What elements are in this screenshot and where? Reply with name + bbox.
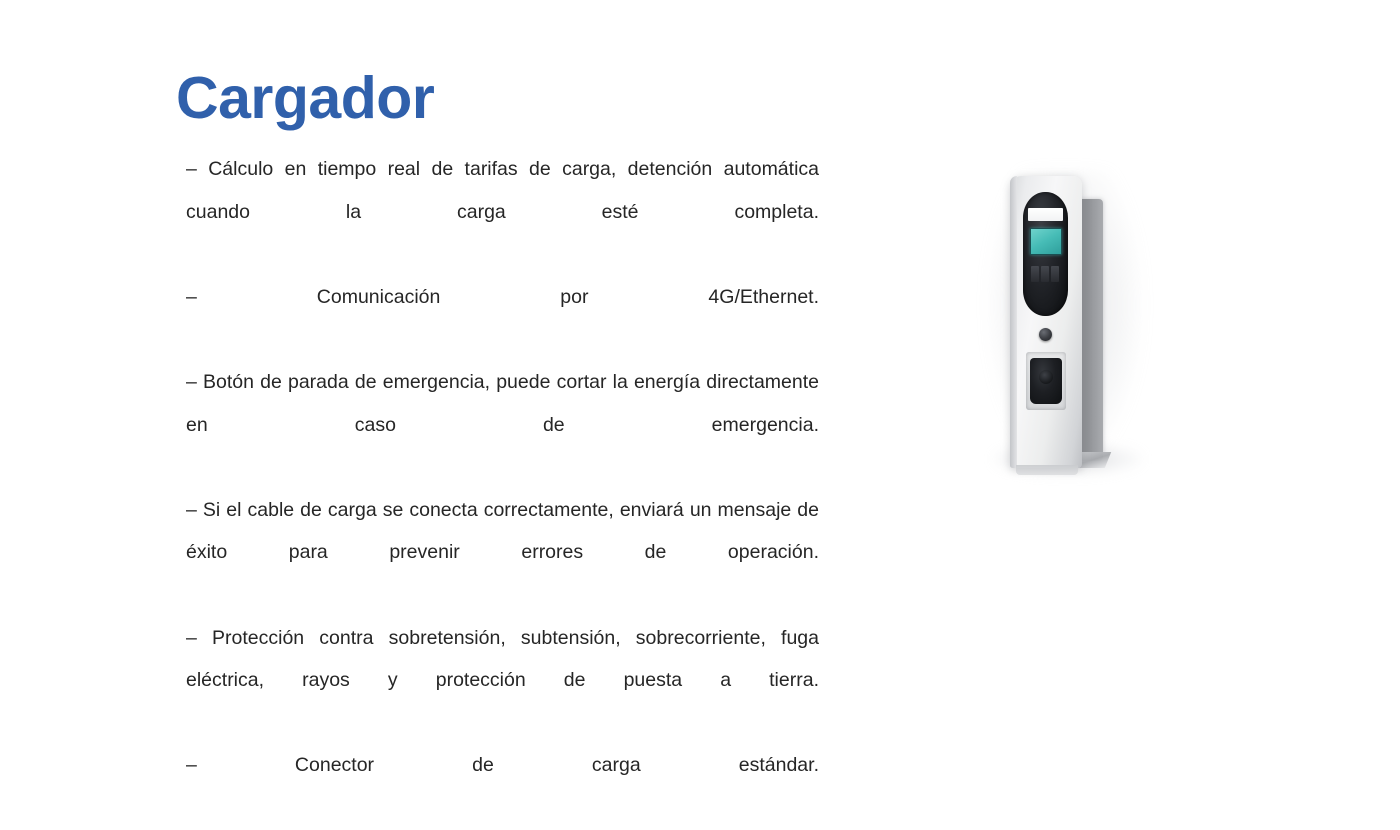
charger-socket-recess xyxy=(1026,352,1066,410)
keypad-key xyxy=(1031,266,1039,282)
charger-emergency-stop-button xyxy=(1039,328,1052,341)
charger-front-fascia xyxy=(1023,192,1068,316)
charger-lcd-display xyxy=(1030,228,1062,255)
charger-product-image xyxy=(955,160,1170,485)
charger-body xyxy=(1010,176,1082,468)
charger-socket-pin xyxy=(1039,370,1053,384)
charger-body-left-edge xyxy=(1010,176,1017,468)
feature-item: – Cálculo en tiempo real de tarifas de c… xyxy=(186,148,819,276)
keypad-key xyxy=(1041,266,1049,282)
feature-item: – Comunicación por 4G/Ethernet. xyxy=(186,276,819,361)
charger-label-strip xyxy=(1028,208,1063,221)
feature-item: – Botón de parada de emergencia, puede c… xyxy=(186,361,819,489)
page-title: Cargador xyxy=(176,66,434,131)
charger-keypad xyxy=(1031,266,1059,282)
feature-list: – Cálculo en tiempo real de tarifas de c… xyxy=(186,148,819,830)
charger-socket-connector xyxy=(1030,358,1062,404)
charger-body-foot xyxy=(1016,465,1078,475)
keypad-key xyxy=(1051,266,1059,282)
feature-item: – Conector de carga estándar. xyxy=(186,744,819,829)
feature-item: – Si el cable de carga se conecta correc… xyxy=(186,489,819,617)
